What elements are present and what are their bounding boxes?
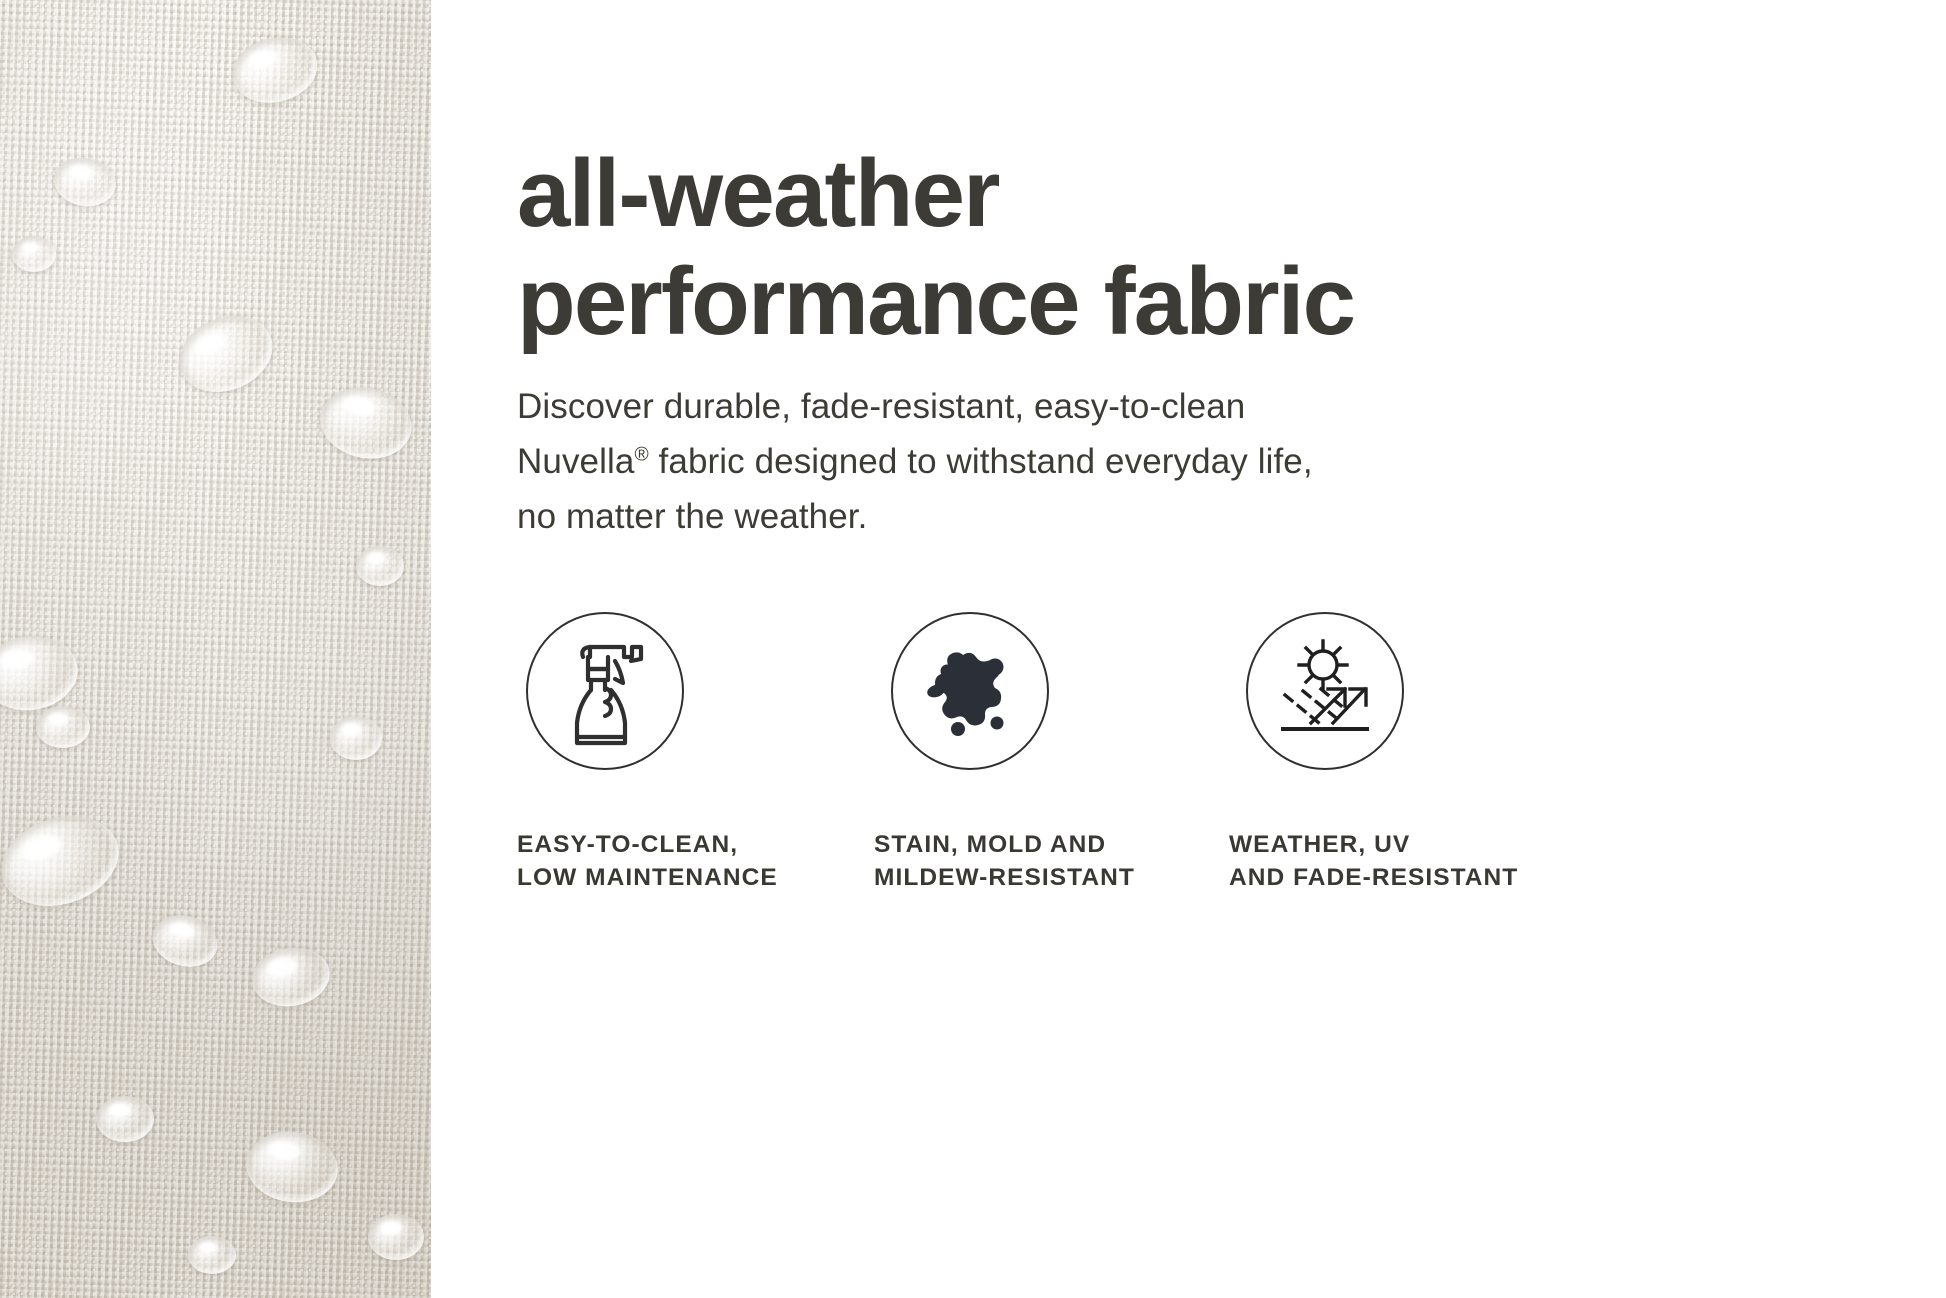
headline-line-2: performance fabric — [517, 248, 1917, 356]
water-droplet — [36, 706, 90, 748]
water-droplet — [330, 716, 382, 760]
subcopy-line-2-rest: fabric designed to withstand everyday li… — [649, 442, 1313, 481]
subcopy-line-2: Nuvella® fabric designed to withstand ev… — [517, 434, 1537, 489]
all-weather-fabric-banner: all-weather performance fabric Discover … — [0, 0, 1946, 1298]
page-title: all-weather performance fabric — [517, 140, 1917, 355]
water-droplet — [368, 1214, 424, 1260]
stain-splatter-icon — [891, 612, 1049, 770]
water-droplet — [12, 236, 56, 272]
headline-line-1: all-weather — [517, 140, 1917, 248]
caption-line-2: AND FADE-RESISTANT — [1229, 861, 1518, 894]
spray-bottle-icon — [526, 612, 684, 770]
feature-caption-stain-resistant: STAIN, MOLD AND MILDEW-RESISTANT — [874, 828, 1135, 894]
water-droplet — [356, 546, 404, 586]
fabric-water-beading-photo — [0, 0, 431, 1298]
caption-line-2: LOW MAINTENANCE — [517, 861, 778, 894]
caption-line-2: MILDEW-RESISTANT — [874, 861, 1135, 894]
brand-name: Nuvella — [517, 442, 634, 481]
water-droplet — [96, 1096, 154, 1142]
subcopy-line-3: no matter the weather. — [517, 489, 1537, 544]
caption-line-1: WEATHER, UV — [1229, 828, 1518, 861]
water-droplet — [188, 1236, 236, 1274]
feature-list: EASY-TO-CLEAN, LOW MAINTENANCE — [517, 612, 1946, 894]
feature-caption-weather-uv-resistant: WEATHER, UV AND FADE-RESISTANT — [1229, 828, 1518, 894]
subcopy-paragraph: Discover durable, fade-resistant, easy-t… — [517, 379, 1537, 544]
subcopy-line-1: Discover durable, fade-resistant, easy-t… — [517, 379, 1537, 434]
content-panel: all-weather performance fabric Discover … — [431, 0, 1946, 1298]
feature-caption-easy-to-clean: EASY-TO-CLEAN, LOW MAINTENANCE — [517, 828, 778, 894]
caption-line-1: STAIN, MOLD AND — [874, 828, 1135, 861]
feature-item-easy-to-clean: EASY-TO-CLEAN, LOW MAINTENANCE — [517, 612, 872, 894]
registered-trademark-icon: ® — [634, 444, 648, 465]
feature-item-stain-resistant: STAIN, MOLD AND MILDEW-RESISTANT — [872, 612, 1227, 894]
sun-uv-reflect-icon — [1246, 612, 1404, 770]
caption-line-1: EASY-TO-CLEAN, — [517, 828, 778, 861]
feature-item-weather-uv-resistant: WEATHER, UV AND FADE-RESISTANT — [1227, 612, 1582, 894]
